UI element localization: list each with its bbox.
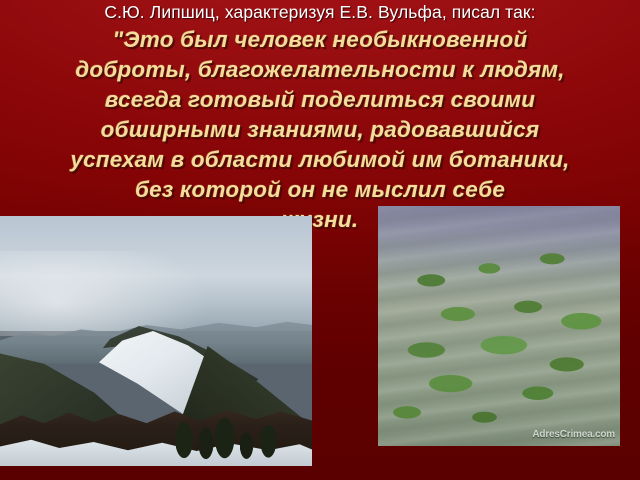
slide-canvas: С.Ю. Липшиц, характеризуя Е.В. Вульфа, п… [0, 0, 640, 480]
quote-line-3: всегда готовый поделиться своими [6, 85, 634, 115]
quote-line-1: "Это был человек необыкновенной [6, 25, 634, 55]
quote-block: "Это был человек необыкновенной доброты,… [6, 25, 634, 235]
quote-line-5: успехам в области любимой им ботаники, [6, 145, 634, 175]
photo-snowy-mountain-ridge [0, 216, 312, 466]
slide-text-block: С.Ю. Липшиц, характеризуя Е.В. Вульфа, п… [0, 0, 640, 235]
intro-line: С.Ю. Липшиц, характеризуя Е.В. Вульфа, п… [6, 1, 634, 23]
quote-line-2: доброты, благожелательности к людям, [6, 55, 634, 85]
photo-right-green-scrub [378, 206, 620, 446]
quote-line-4: обширными знаниями, радовавшийся [6, 115, 634, 145]
photo-karst-plateau: AdresCrimea.com [378, 206, 620, 446]
quote-line-6: без которой он не мыслил себе [6, 175, 634, 205]
photo-left-haze [0, 251, 312, 336]
photo-left-foreground-trees [0, 406, 312, 461]
photo-right-watermark: AdresCrimea.com [532, 429, 615, 440]
